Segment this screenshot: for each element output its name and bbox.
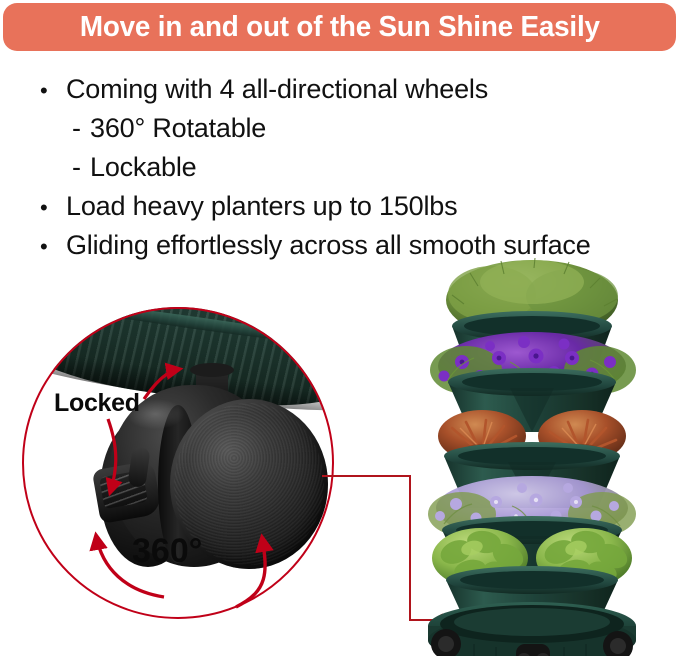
- bullet-icon: •: [40, 230, 66, 264]
- list-item-label: Coming with 4 all-directional wheels: [66, 72, 488, 106]
- bullet-icon: •: [40, 74, 66, 108]
- list-item: - 360° Rotatable: [40, 111, 670, 150]
- list-item: • Load heavy planters up to 150lbs: [40, 189, 670, 228]
- dash-icon: -: [72, 111, 90, 145]
- list-item-label: Lockable: [90, 150, 196, 184]
- wheel-detail-callout: Locked 360°: [22, 307, 334, 619]
- list-item: • Coming with 4 all-directional wheels: [40, 72, 670, 111]
- product-image: [404, 258, 679, 656]
- bullet-icon: •: [40, 191, 66, 225]
- stacking-planter-svg: [404, 258, 679, 656]
- list-item-label: 360° Rotatable: [90, 111, 266, 145]
- feature-list: • Coming with 4 all-directional wheels -…: [40, 72, 670, 267]
- list-item-label: Gliding effortlessly across all smooth s…: [66, 228, 591, 262]
- header-banner: Move in and out of the Sun Shine Easily: [3, 3, 676, 51]
- dash-icon: -: [72, 150, 90, 184]
- locked-label: Locked: [54, 389, 140, 417]
- callout-ring: [22, 307, 334, 619]
- rotation-label: 360°: [132, 533, 202, 569]
- list-item: - Lockable: [40, 150, 670, 189]
- list-item-label: Load heavy planters up to 150lbs: [66, 189, 457, 223]
- caster-tray-base: [428, 602, 636, 656]
- banner-title: Move in and out of the Sun Shine Easily: [80, 12, 600, 42]
